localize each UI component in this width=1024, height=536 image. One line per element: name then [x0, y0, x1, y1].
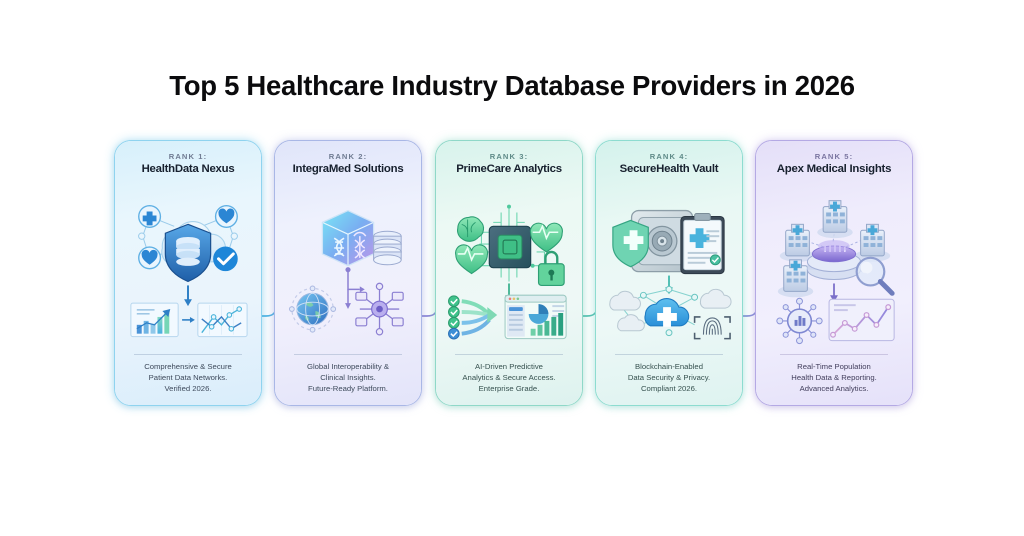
card-divider-2 [294, 354, 402, 355]
card-divider-5 [780, 354, 888, 355]
provider-card-2[interactable]: RANK 2: IntegraMed Solutions [274, 140, 422, 406]
card-artwork-1 [123, 180, 253, 353]
rank-label-3: RANK 3: [490, 152, 529, 161]
desc-line: Global Interoperability & [307, 361, 389, 372]
provider-card-3[interactable]: RANK 3: PrimeCare Analytics [435, 140, 583, 406]
rank-label-5: RANK 5: [815, 152, 854, 161]
card-divider-3 [455, 354, 563, 355]
infographic-root: Top 5 Healthcare Industry Database Provi… [0, 0, 1024, 536]
desc-line: Patient Data Networks. [144, 372, 232, 383]
provider-card-5[interactable]: RANK 5: Apex Medical Insights [755, 140, 913, 406]
provider-name-3: PrimeCare Analytics [456, 163, 562, 176]
desc-line: Comprehensive & Secure [144, 361, 232, 372]
rank-label-1: RANK 1: [169, 152, 208, 161]
rank-label-2: RANK 2: [329, 152, 368, 161]
card-divider-4 [615, 354, 723, 355]
desc-line: Analytics & Secure Access. [462, 372, 555, 383]
desc-line: Health Data & Reporting. [791, 372, 876, 383]
provider-name-4: SecureHealth Vault [620, 163, 719, 176]
desc-line: AI-Driven Predictive [462, 361, 555, 372]
provider-description-5: Real-Time Population Health Data & Repor… [788, 361, 879, 396]
desc-line: Compliant 2026. [628, 383, 710, 394]
provider-name-1: HealthData Nexus [142, 163, 235, 176]
provider-name-5: Apex Medical Insights [777, 163, 891, 176]
provider-description-4: Blockchain-Enabled Data Security & Priva… [625, 361, 713, 396]
provider-name-2: IntegraMed Solutions [293, 163, 404, 176]
desc-line: Data Security & Privacy. [628, 372, 710, 383]
provider-card-deck: RANK 1: HealthData Nexus [114, 140, 914, 406]
card-artwork-3 [444, 180, 574, 353]
desc-line: Enterprise Grade. [462, 383, 555, 394]
provider-card-1[interactable]: RANK 1: HealthData Nexus [114, 140, 262, 406]
card-artwork-2 [283, 180, 413, 353]
provider-description-3: AI-Driven Predictive Analytics & Secure … [459, 361, 558, 396]
desc-line: Clinical Insights. [307, 372, 389, 383]
desc-line: Future-Ready Platform. [307, 383, 389, 394]
rank-label-4: RANK 4: [650, 152, 689, 161]
desc-line: Advanced Analytics. [791, 383, 876, 394]
provider-card-4[interactable]: RANK 4: SecureHealth Vault [595, 140, 743, 406]
desc-line: Real-Time Population [791, 361, 876, 372]
card-artwork-4 [604, 180, 734, 353]
page-title: Top 5 Healthcare Industry Database Provi… [0, 70, 1024, 102]
card-artwork-5 [764, 180, 904, 353]
provider-description-1: Comprehensive & Secure Patient Data Netw… [141, 361, 235, 396]
desc-line: Verified 2026. [144, 383, 232, 394]
desc-line: Blockchain-Enabled [628, 361, 710, 372]
provider-description-2: Global Interoperability & Clinical Insig… [304, 361, 392, 396]
card-divider-1 [134, 354, 242, 355]
